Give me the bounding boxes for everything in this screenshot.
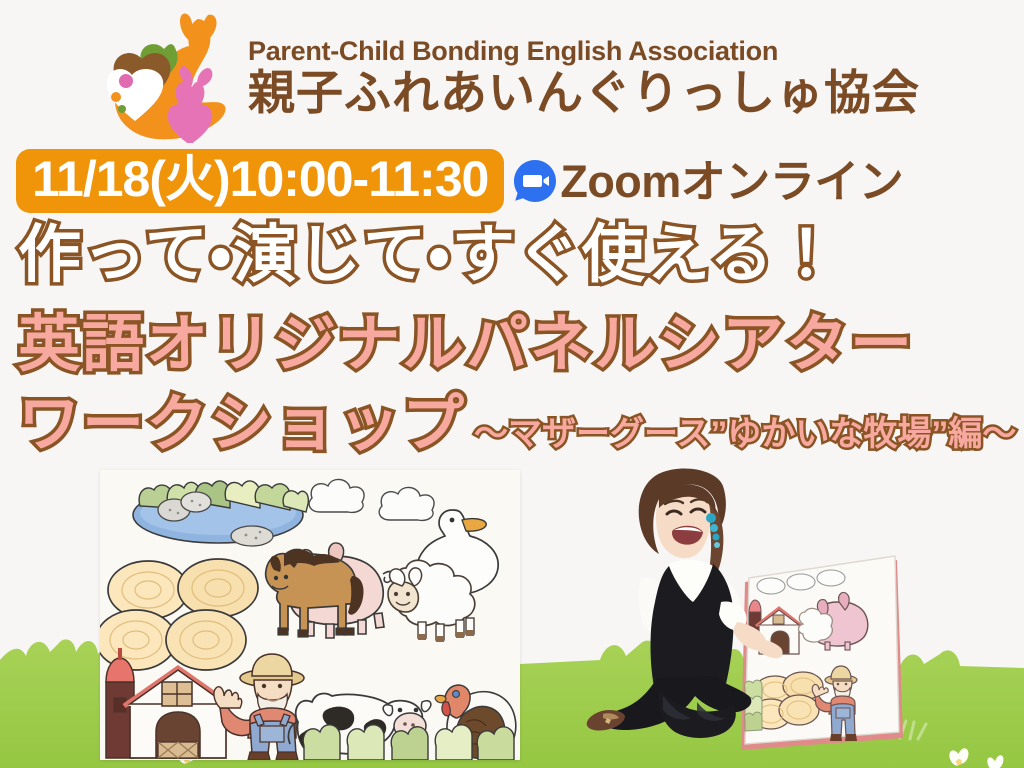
zoom-icon xyxy=(512,158,558,204)
schedule-row: 11/18(火)10:00-11:30 Zoomオンライン xyxy=(0,150,1024,212)
date-time-badge: 11/18(火)10:00-11:30 xyxy=(16,149,504,213)
headline-line-3-sub: 〜マザーグース”ゆかいな牧場”編〜 xyxy=(474,415,1016,453)
org-name-japanese: 親子ふれあいんぐりっしゅ協会 xyxy=(248,68,920,119)
platform-block: Zoomオンライン xyxy=(512,158,903,204)
org-name-english: Parent-Child Bonding English Association xyxy=(248,37,920,65)
flyer-canvas: Parent-Child Bonding English Association… xyxy=(0,0,1024,768)
kangaroo-heart-logo xyxy=(104,13,234,143)
headline-line-3: ワークショップ〜マザーグース”ゆかいな牧場”編〜 xyxy=(18,392,1024,457)
platform-label: Zoomオンライン xyxy=(560,159,903,204)
org-name-block: Parent-Child Bonding English Association… xyxy=(248,37,920,118)
header: Parent-Child Bonding English Association… xyxy=(0,8,1024,148)
headline-line-1: 作って・演じて・すぐ使える！ xyxy=(18,222,1018,288)
headline-line-2: 英語オリジナルパネルシアター xyxy=(18,312,1018,377)
presenter-with-panel-board-photo xyxy=(545,452,905,768)
headline-line-3-main: ワークショップ xyxy=(18,390,466,459)
panel-theater-board-photo xyxy=(100,470,520,760)
